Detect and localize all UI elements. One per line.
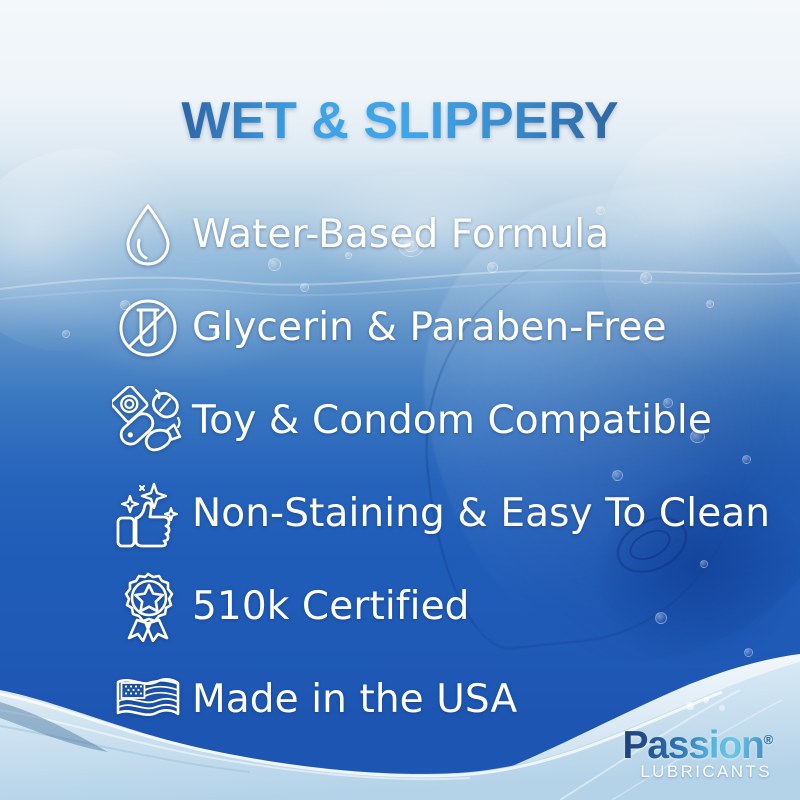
feature-label: Toy & Condom Compatible: [192, 398, 712, 443]
usa-flag-icon: [104, 674, 192, 726]
feature-label: Made in the USA: [192, 677, 517, 722]
feature-list: Water-Based Formula Glycerin & Paraben-F…: [104, 188, 800, 746]
feature-label: Non-Staining & Easy To Clean: [192, 491, 770, 536]
bubble-decoration: [62, 330, 70, 338]
headline-block: NATURALLY WET & SLIPPERY: [0, 14, 800, 147]
feature-item: 510k Certified: [104, 560, 800, 653]
thumbs-up-sparkle-icon: [104, 480, 192, 548]
product-feature-graphic: NATURALLY WET & SLIPPERY Water-Based For…: [0, 0, 800, 800]
feature-label: Glycerin & Paraben-Free: [192, 305, 667, 350]
brand-name-text: Passion: [622, 724, 763, 767]
no-test-tube-icon: [104, 296, 192, 360]
headline-line-2: WET & SLIPPERY: [0, 95, 800, 147]
feature-label: 510k Certified: [192, 584, 470, 629]
headline-line-1: NATURALLY: [0, 14, 800, 89]
water-drop-icon: [104, 202, 192, 268]
brand-logo: Passion® LUBRICANTS: [622, 727, 772, 782]
feature-item: Toy & Condom Compatible: [104, 374, 800, 467]
award-badge-icon: [104, 572, 192, 642]
registered-trademark-icon: ®: [764, 732, 772, 747]
brand-name: Passion®: [622, 727, 772, 764]
feature-item: Water-Based Formula: [104, 188, 800, 281]
feature-item: Non-Staining & Easy To Clean: [104, 467, 800, 560]
toy-condom-icon: [104, 386, 192, 456]
feature-label: Water-Based Formula: [192, 212, 609, 257]
feature-item: Glycerin & Paraben-Free: [104, 281, 800, 374]
